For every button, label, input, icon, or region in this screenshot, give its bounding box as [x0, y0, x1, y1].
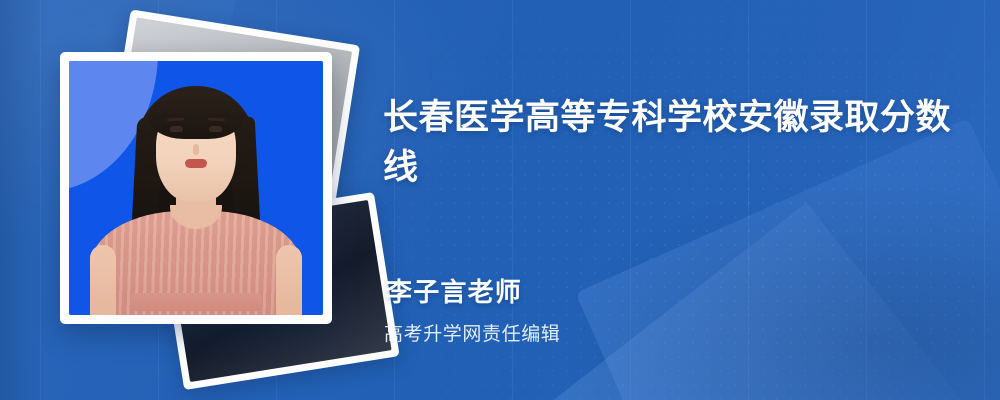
author-role: 高考升学网责任编辑 [384, 319, 560, 346]
article-header-banner: 长春医学高等专科学校安徽录取分数线 李子言老师 高考升学网责任编辑 [0, 0, 1000, 400]
portrait-dress-waistband [130, 293, 262, 311]
page-title: 长春医学高等专科学校安徽录取分数线 [383, 93, 951, 192]
portrait-illustration [69, 61, 323, 315]
portrait-arm-left [90, 245, 116, 315]
portrait-lips [185, 159, 207, 168]
photo-card-main [60, 52, 332, 324]
photo-card-stack [42, 22, 362, 378]
portrait-hair-fringe [150, 93, 242, 139]
avatar [69, 61, 323, 315]
banner-text-column: 长春医学高等专科学校安徽录取分数线 李子言老师 高考升学网责任编辑 [383, 0, 976, 400]
author-name: 李子言老师 [386, 272, 560, 309]
background-left-edge-shade [0, 0, 46, 400]
portrait-nose [193, 144, 199, 155]
portrait-arm-right [276, 245, 302, 315]
portrait-eye-right [209, 126, 222, 132]
portrait-eye-left [170, 126, 183, 132]
byline: 李子言老师 高考升学网责任编辑 [383, 272, 560, 346]
